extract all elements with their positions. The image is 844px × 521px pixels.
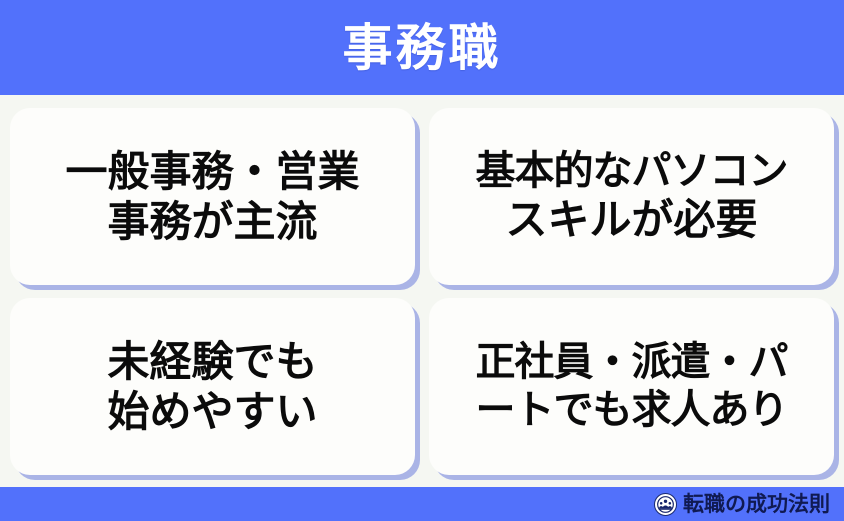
card-grid: 一般事務・営業 事務が主流 基本的なパソコン スキルが必要 未経験でも 始めやす… <box>0 95 844 487</box>
card-pc-skills: 基本的なパソコン スキルが必要 <box>429 108 834 285</box>
card-general-admin-line1: 一般事務・営業 <box>65 147 359 197</box>
people-circle-icon <box>654 493 677 516</box>
brand-name: 転職の成功法則 <box>683 494 830 515</box>
header-band: 事務職 <box>0 0 844 95</box>
card-employment-types-line1: 正社員・派遣・パ <box>476 339 788 386</box>
infographic-root: 事務職 一般事務・営業 事務が主流 基本的なパソコン スキルが必要 未経験でも … <box>0 0 844 521</box>
card-employment-types: 正社員・派遣・パ ートでも求人あり <box>429 298 834 475</box>
card-no-experience-line2: 始めやすい <box>107 387 317 437</box>
card-general-admin-line2: 事務が主流 <box>107 197 317 247</box>
page-title: 事務職 <box>343 23 502 73</box>
brand-mark: 転職の成功法則 <box>654 493 830 516</box>
card-general-admin: 一般事務・営業 事務が主流 <box>10 108 415 285</box>
card-no-experience: 未経験でも 始めやすい <box>10 298 415 475</box>
footer-band: 転職の成功法則 <box>0 487 844 521</box>
card-pc-skills-line1: 基本的なパソコン <box>476 148 788 195</box>
card-employment-types-line2: ートでも求人あり <box>476 387 788 434</box>
card-no-experience-line1: 未経験でも <box>107 337 317 387</box>
card-pc-skills-line2: スキルが必要 <box>505 195 757 245</box>
